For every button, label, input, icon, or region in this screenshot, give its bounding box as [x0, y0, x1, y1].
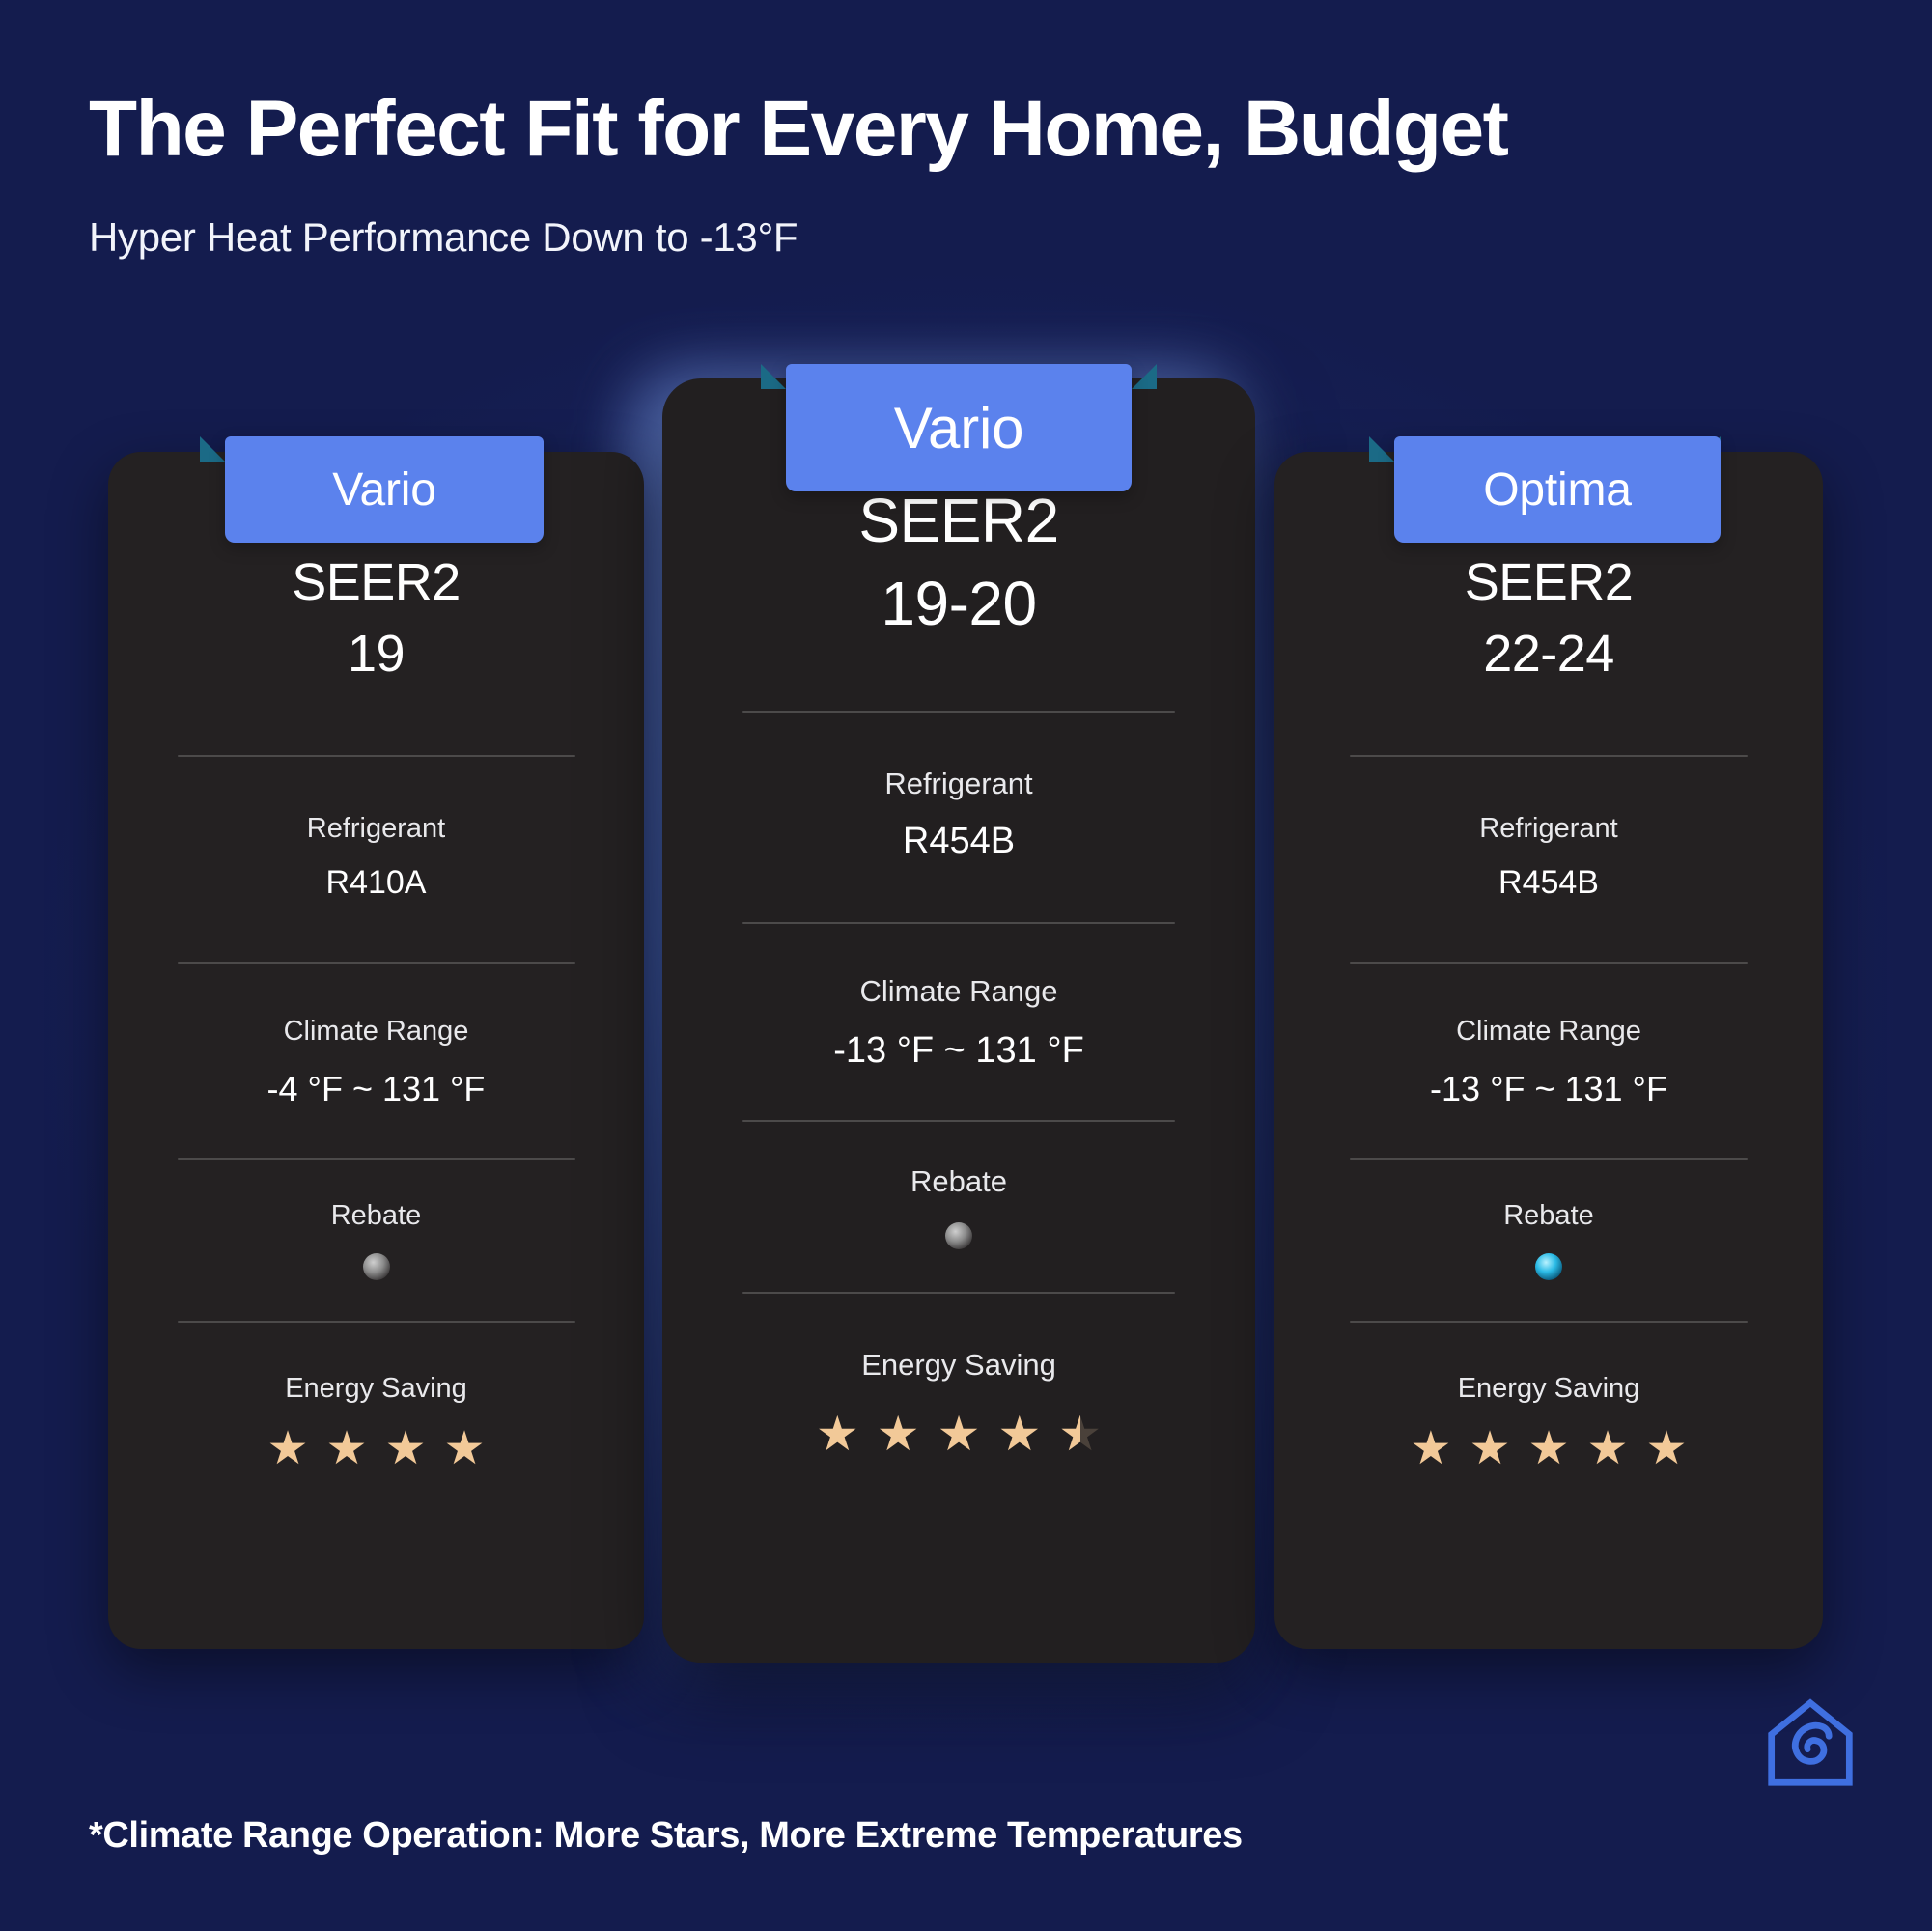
card1-ribbon-label: Vario	[332, 463, 436, 517]
house-logo	[1764, 1695, 1857, 1788]
card1-refrigerant-label: Refrigerant	[307, 813, 445, 845]
card3-seer-label: SEER2	[1465, 552, 1634, 612]
card1-climate-value: -4 °F ~ 131 °F	[267, 1069, 486, 1109]
card3-divider-2	[1350, 962, 1748, 964]
star-icon: ★	[877, 1410, 920, 1458]
card1-energy-label: Energy Saving	[285, 1373, 467, 1405]
card2-climate-value: -13 °F ~ 131 °F	[833, 1030, 1084, 1072]
star-icon: ★	[325, 1426, 367, 1472]
card3-ribbon-fold-left	[1369, 436, 1394, 462]
card3-energy-label: Energy Saving	[1458, 1373, 1640, 1405]
star-icon: ★	[385, 1426, 427, 1472]
card1-divider-1	[178, 755, 575, 757]
card1-rebate-label: Rebate	[331, 1200, 422, 1232]
star-icon: ★	[997, 1410, 1041, 1458]
comparison-cards: SEER2 19 Refrigerant R410A Climate Range…	[0, 0, 1932, 1931]
card2-rebate-indicator	[945, 1222, 972, 1249]
half-star-icon: ★★	[1058, 1406, 1102, 1462]
card2-refrigerant-label: Refrigerant	[884, 767, 1032, 801]
card-vario-19[interactable]: SEER2 19 Refrigerant R410A Climate Range…	[108, 452, 644, 1649]
card-optima-22-24[interactable]: SEER2 22-24 Refrigerant R454B Climate Ra…	[1274, 452, 1823, 1649]
card2-ribbon-label: Vario	[894, 395, 1024, 462]
card2-divider-3	[742, 1120, 1175, 1122]
card3-ribbon-tab[interactable]: Optima	[1394, 436, 1721, 543]
card2-divider-2	[742, 922, 1175, 924]
card2-seer-value: 19-20	[881, 568, 1036, 639]
card3-divider-3	[1350, 1158, 1748, 1160]
card1-divider-3	[178, 1158, 575, 1160]
card-vario-19-20[interactable]: SEER2 19-20 Refrigerant R454B Climate Ra…	[662, 378, 1255, 1663]
card2-refrigerant-value: R454B	[903, 821, 1015, 862]
card3-rebate-indicator	[1535, 1253, 1562, 1280]
card3-refrigerant-value: R454B	[1498, 864, 1599, 902]
card3-ribbon-label: Optima	[1483, 463, 1632, 517]
card3-seer-value: 22-24	[1483, 624, 1614, 684]
star-icon: ★	[816, 1410, 859, 1458]
star-icon: ★	[1410, 1426, 1451, 1472]
card2-ribbon-fold-left	[761, 364, 786, 389]
star-icon: ★	[1587, 1426, 1629, 1472]
card1-divider-4	[178, 1321, 575, 1323]
card1-energy-stars: ★ ★ ★ ★	[266, 1426, 485, 1472]
card1-refrigerant-value: R410A	[326, 864, 427, 902]
footnote: *Climate Range Operation: More Stars, Mo…	[89, 1815, 1243, 1857]
star-icon: ★	[938, 1410, 981, 1458]
star-icon: ★	[444, 1426, 486, 1472]
card2-divider-4	[742, 1292, 1175, 1294]
card2-energy-label: Energy Saving	[861, 1348, 1056, 1383]
card2-rebate-label: Rebate	[910, 1164, 1007, 1199]
card2-climate-label: Climate Range	[859, 974, 1057, 1009]
card1-divider-2	[178, 962, 575, 964]
card3-climate-label: Climate Range	[1456, 1016, 1641, 1048]
star-icon: ★	[1469, 1426, 1510, 1472]
star-icon: ★	[1527, 1426, 1569, 1472]
card1-ribbon-tab[interactable]: Vario	[225, 436, 544, 543]
card3-divider-4	[1350, 1321, 1748, 1323]
card1-seer-label: SEER2	[292, 552, 461, 612]
star-icon: ★	[1646, 1426, 1688, 1472]
card1-climate-label: Climate Range	[284, 1016, 469, 1048]
card3-rebate-label: Rebate	[1503, 1200, 1594, 1232]
card3-energy-stars: ★ ★ ★ ★ ★	[1410, 1426, 1687, 1472]
card2-ribbon-fold-right	[1132, 364, 1157, 389]
card3-refrigerant-label: Refrigerant	[1479, 813, 1617, 845]
card1-rebate-indicator	[363, 1253, 390, 1280]
card2-energy-stars: ★ ★ ★ ★ ★★	[816, 1406, 1102, 1462]
card1-seer-value: 19	[348, 624, 405, 684]
card2-divider-1	[742, 711, 1175, 713]
card2-ribbon-tab[interactable]: Vario	[786, 364, 1132, 491]
card3-climate-value: -13 °F ~ 131 °F	[1430, 1069, 1667, 1109]
card1-ribbon-fold	[200, 436, 225, 462]
card3-divider-1	[1350, 755, 1748, 757]
star-icon: ★	[266, 1426, 308, 1472]
card2-seer-label: SEER2	[858, 485, 1058, 556]
